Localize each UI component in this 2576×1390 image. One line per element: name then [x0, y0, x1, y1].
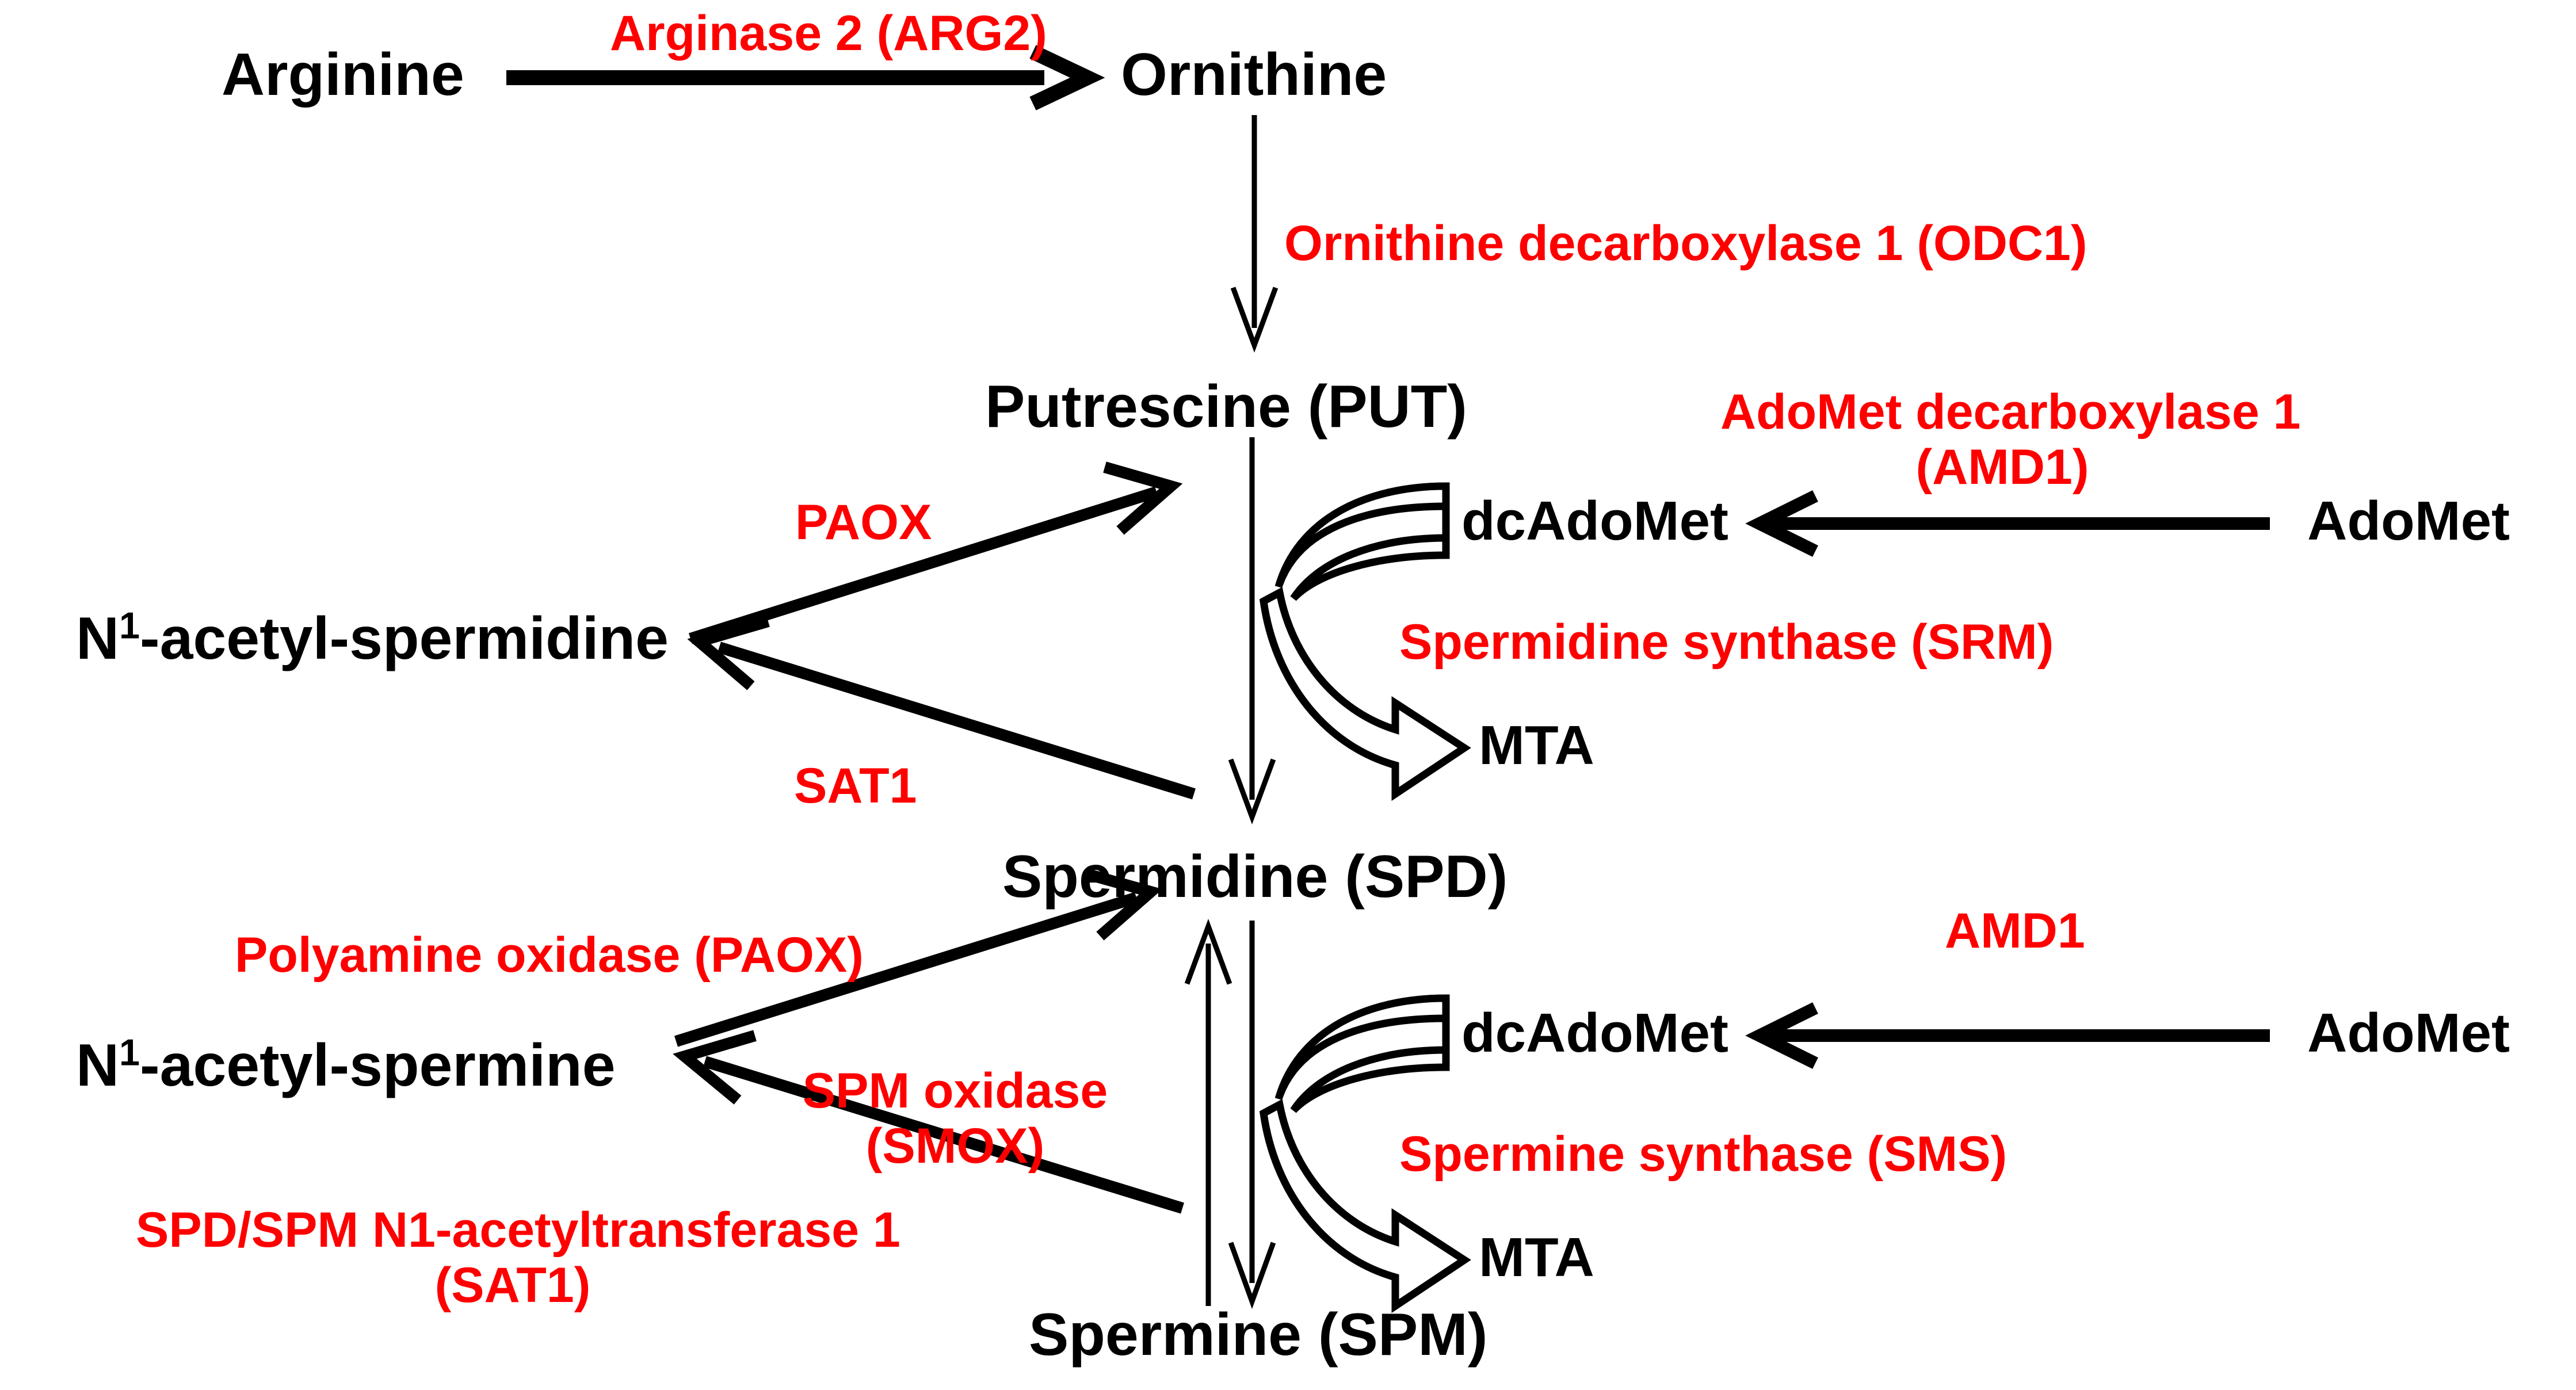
enzyme-label-amd1-bottom: AMD1	[1945, 903, 2085, 959]
arrow-sat1-to-acetylspermidine	[699, 621, 1194, 794]
enzyme-label-sms: Spermine synthase (SMS)	[1399, 1126, 2007, 1182]
pathway-diagram: Arginine Ornithine Putrescine (PUT) Sper…	[0, 0, 2576, 1390]
metabolite-adomet-top: AdoMet	[2307, 494, 2510, 549]
metabolite-mta-bottom: MTA	[1479, 1230, 1594, 1285]
metabolite-dcadomet-top: dcAdoMet	[1461, 494, 1728, 549]
n1-acetyl-spermine-superscript: 1	[119, 1032, 140, 1073]
metabolite-spermidine: Spermidine (SPD)	[1002, 847, 1508, 907]
n1-acetyl-spermine-n: N	[76, 1032, 119, 1099]
enzyme-label-odc1: Ornithine decarboxylase 1 (ODC1)	[1284, 216, 2087, 271]
enzyme-label-sat1-short: SAT1	[794, 758, 917, 814]
arrow-ornithine-to-putrescine	[1233, 115, 1276, 345]
enzyme-label-srm: Spermidine synthase (SRM)	[1399, 614, 2054, 670]
amd1-top-line-2: (AMD1)	[1720, 440, 2284, 495]
metabolite-mta-top: MTA	[1479, 718, 1594, 773]
arrow-adomet-to-dcadomet-top	[1760, 496, 2270, 551]
metabolite-spermine: Spermine (SPM)	[1029, 1305, 1487, 1365]
metabolite-ornithine: Ornithine	[1121, 45, 1387, 105]
enzyme-label-sat1-full: SPD/SPM N1-acetyltransferase 1 (SAT1)	[136, 1202, 890, 1313]
metabolite-adomet-bottom: AdoMet	[2307, 1006, 2510, 1061]
arrow-spermine-to-spermidine	[1187, 926, 1230, 1306]
arrow-layer	[0, 0, 2576, 1390]
arrow-paox-to-putrescine	[690, 467, 1171, 639]
enzyme-label-smox: SPM oxidase (SMOX)	[794, 1063, 1116, 1174]
sat1-full-line-1: SPD/SPM N1-acetyltransferase 1	[136, 1202, 890, 1258]
n1-acetyl-spermidine-n: N	[76, 605, 119, 672]
enzyme-label-arg2: Arginase 2 (ARG2)	[610, 6, 1047, 61]
metabolite-n1-acetyl-spermine: N1-acetyl-spermine	[76, 1036, 616, 1095]
enzyme-label-paox-full: Polyamine oxidase (PAOX)	[235, 927, 864, 983]
metabolite-arginine: Arginine	[222, 45, 464, 105]
smox-line-1: SPM oxidase	[794, 1063, 1116, 1118]
n1-acetyl-spermidine-superscript: 1	[119, 605, 140, 646]
sat1-full-line-2: (SAT1)	[136, 1258, 890, 1313]
n1-acetyl-spermine-rest: -acetyl-spermine	[140, 1032, 616, 1099]
smox-line-2: (SMOX)	[794, 1118, 1116, 1174]
metabolite-dcadomet-bottom: dcAdoMet	[1461, 1006, 1728, 1061]
metabolite-putrescine: Putrescine (PUT)	[985, 377, 1467, 437]
metabolite-n1-acetyl-spermidine: N1-acetyl-spermidine	[76, 609, 669, 669]
amd1-top-line-1: AdoMet decarboxylase 1	[1720, 384, 2284, 440]
enzyme-label-amd1-top: AdoMet decarboxylase 1 (AMD1)	[1720, 384, 2284, 495]
arrow-adomet-to-dcadomet-bottom	[1760, 1008, 2270, 1063]
enzyme-label-paox-short: PAOX	[795, 495, 932, 550]
n1-acetyl-spermidine-rest: -acetyl-spermidine	[140, 605, 669, 672]
